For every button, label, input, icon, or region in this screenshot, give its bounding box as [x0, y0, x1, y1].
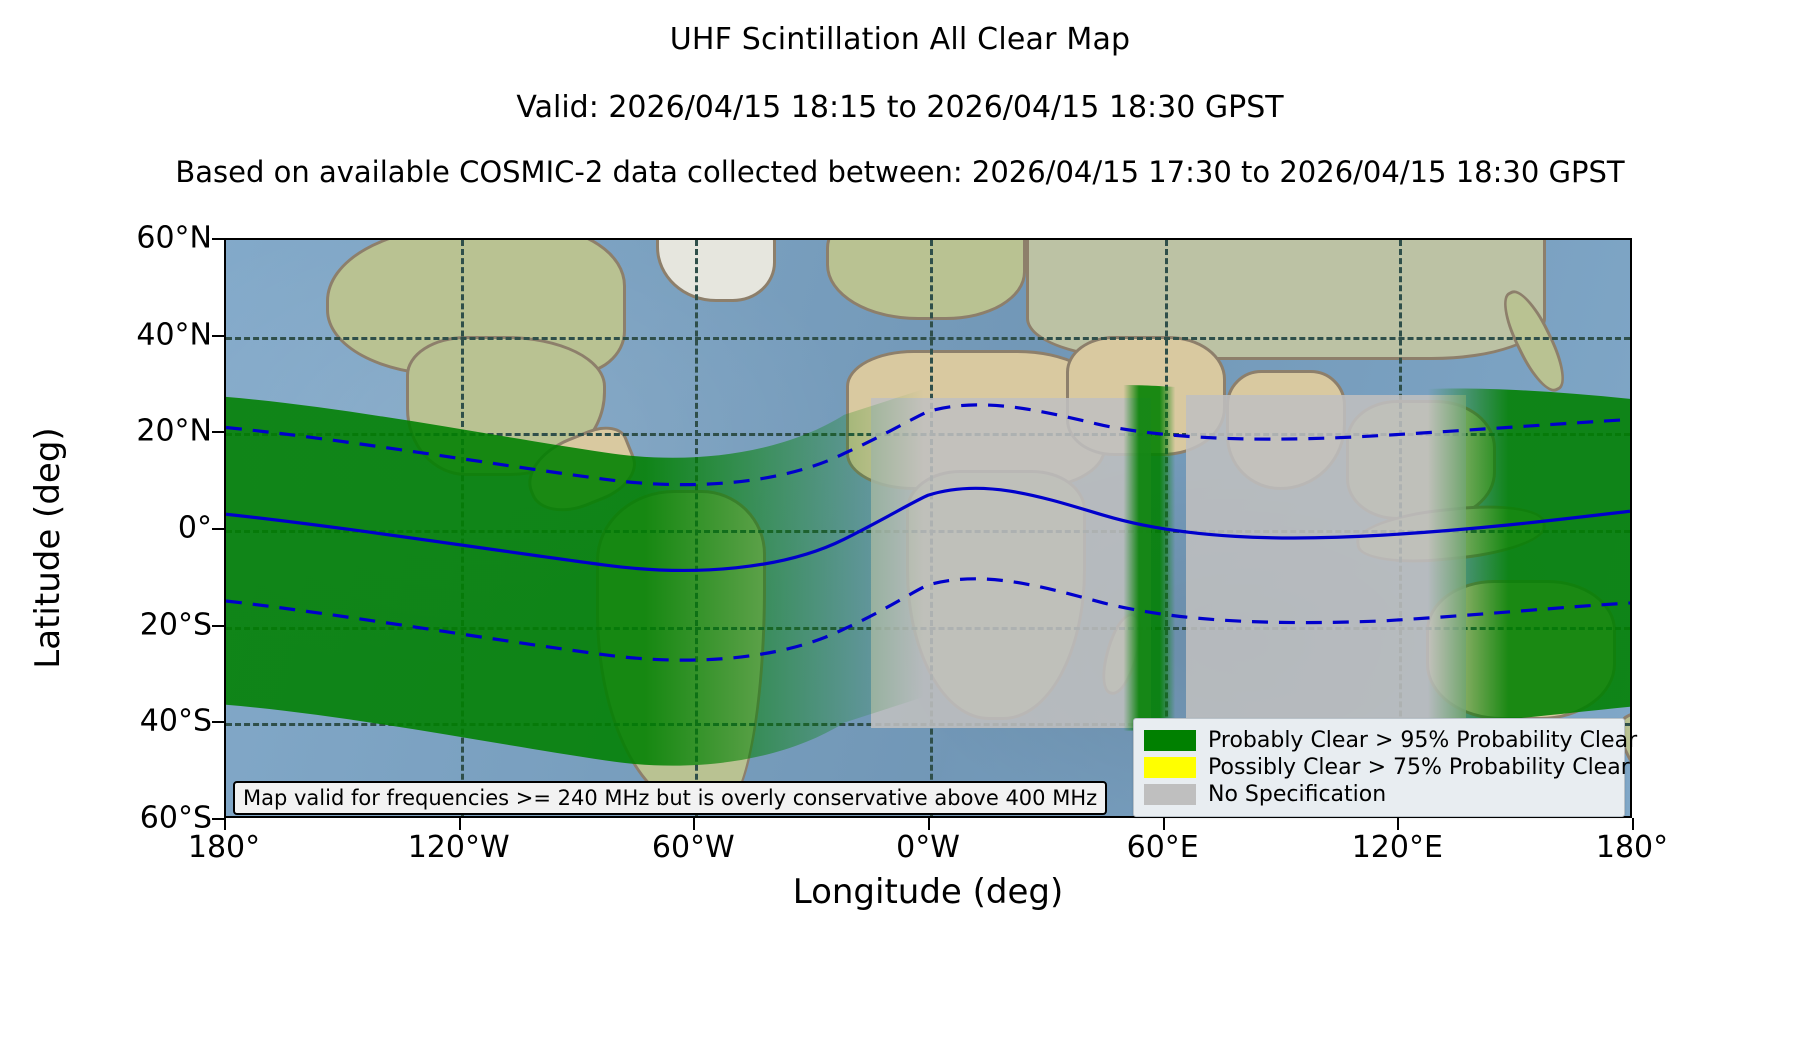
y-tick-label-20s: 20°S — [62, 607, 212, 642]
x-tick-label-120w: 120°W — [359, 830, 559, 865]
y-tick-mark-40s — [212, 721, 224, 723]
legend-swatch-possibly-clear — [1144, 757, 1196, 778]
frequency-validity-note-text: Map valid for frequencies >= 240 MHz but… — [243, 786, 1097, 810]
legend-item-possibly-clear: Possibly Clear > 75% Probability Clear — [1144, 754, 1614, 781]
x-tick-label-60e: 60°E — [1063, 830, 1263, 865]
legend-label-probably-clear: Probably Clear > 95% Probability Clear — [1208, 728, 1637, 753]
y-tick-label-60n: 60°N — [62, 221, 212, 256]
y-tick-mark-60s — [212, 818, 224, 820]
y-tick-label-20n: 20°N — [62, 414, 212, 449]
valid-period-subtitle: Valid: 2026/04/15 18:15 to 2026/04/15 18… — [0, 90, 1800, 125]
y-tick-label-40s: 40°S — [62, 704, 212, 739]
page-title: UHF Scintillation All Clear Map — [0, 22, 1800, 57]
x-axis-label: Longitude (deg) — [224, 872, 1632, 912]
frequency-validity-note: Map valid for frequencies >= 240 MHz but… — [233, 781, 1107, 815]
y-axis-label: Latitude (deg) — [28, 288, 68, 808]
x-tick-label-180w: 180° — [124, 830, 324, 865]
legend-item-probably-clear: Probably Clear > 95% Probability Clear — [1144, 727, 1614, 754]
legend-swatch-probably-clear — [1144, 730, 1196, 751]
data-basis-subtitle: Based on available COSMIC-2 data collect… — [0, 155, 1800, 189]
x-tick-mark-60e — [1163, 818, 1165, 830]
x-tick-label-60w: 60°W — [593, 830, 793, 865]
x-tick-label-0: 0°W — [828, 830, 1028, 865]
landmass-australia — [1426, 580, 1616, 720]
x-tick-mark-0 — [928, 818, 930, 830]
y-tick-mark-0 — [212, 528, 224, 530]
x-tick-mark-180e — [1632, 818, 1634, 830]
landmass-southeast-asia — [1346, 400, 1496, 520]
x-tick-mark-180w — [224, 818, 226, 830]
x-tick-mark-60w — [693, 818, 695, 830]
figure: UHF Scintillation All Clear Map Valid: 2… — [0, 0, 1800, 1050]
landmass-middle-east — [1066, 336, 1226, 456]
y-tick-mark-20n — [212, 431, 224, 433]
y-tick-label-0: 0° — [62, 511, 212, 546]
x-tick-label-180e: 180° — [1532, 830, 1732, 865]
legend-label-possibly-clear: Possibly Clear > 75% Probability Clear — [1208, 755, 1630, 780]
y-tick-mark-40n — [212, 335, 224, 337]
x-tick-label-120e: 120°E — [1297, 830, 1497, 865]
legend-swatch-no-specification — [1144, 784, 1196, 805]
legend: Probably Clear > 95% Probability Clear P… — [1133, 718, 1625, 817]
legend-label-no-specification: No Specification — [1208, 782, 1386, 807]
y-tick-mark-60n — [212, 238, 224, 240]
x-tick-mark-120w — [459, 818, 461, 830]
legend-item-no-specification: No Specification — [1144, 781, 1614, 808]
x-tick-mark-120e — [1397, 818, 1399, 830]
y-tick-mark-20s — [212, 625, 224, 627]
y-tick-label-40n: 40°N — [62, 317, 212, 352]
